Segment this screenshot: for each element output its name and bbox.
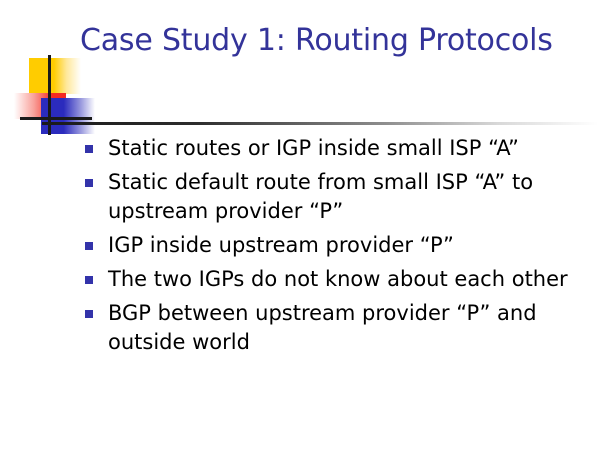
- list-item-text: BGP between upstream provider “P” and ou…: [108, 299, 594, 357]
- list-item: The two IGPs do not know about each othe…: [84, 265, 594, 294]
- list-item: BGP between upstream provider “P” and ou…: [84, 299, 594, 357]
- list-item: Static default route from small ISP “A” …: [84, 168, 594, 226]
- list-item-text: The two IGPs do not know about each othe…: [108, 265, 594, 294]
- square-bullet-icon: [85, 145, 93, 153]
- square-bullet-icon: [85, 276, 93, 284]
- square-bullet-icon: [85, 179, 93, 187]
- square-bullet-icon: [85, 310, 93, 318]
- bullet-list: Static routes or IGP inside small ISP “A…: [84, 134, 594, 362]
- slide-canvas: Case Study 1: Routing Protocols Static r…: [0, 0, 600, 450]
- title-divider: [42, 122, 598, 125]
- horizontal-rule-icon: [20, 117, 92, 120]
- slide-title: Case Study 1: Routing Protocols: [80, 22, 580, 60]
- list-item-text: IGP inside upstream provider “P”: [108, 231, 594, 260]
- square-bullet-icon: [85, 242, 93, 250]
- list-item-text: Static routes or IGP inside small ISP “A…: [108, 134, 594, 163]
- yellow-square-icon: [29, 58, 81, 94]
- list-item-text: Static default route from small ISP “A” …: [108, 168, 594, 226]
- list-item: Static routes or IGP inside small ISP “A…: [84, 134, 594, 163]
- list-item: IGP inside upstream provider “P”: [84, 231, 594, 260]
